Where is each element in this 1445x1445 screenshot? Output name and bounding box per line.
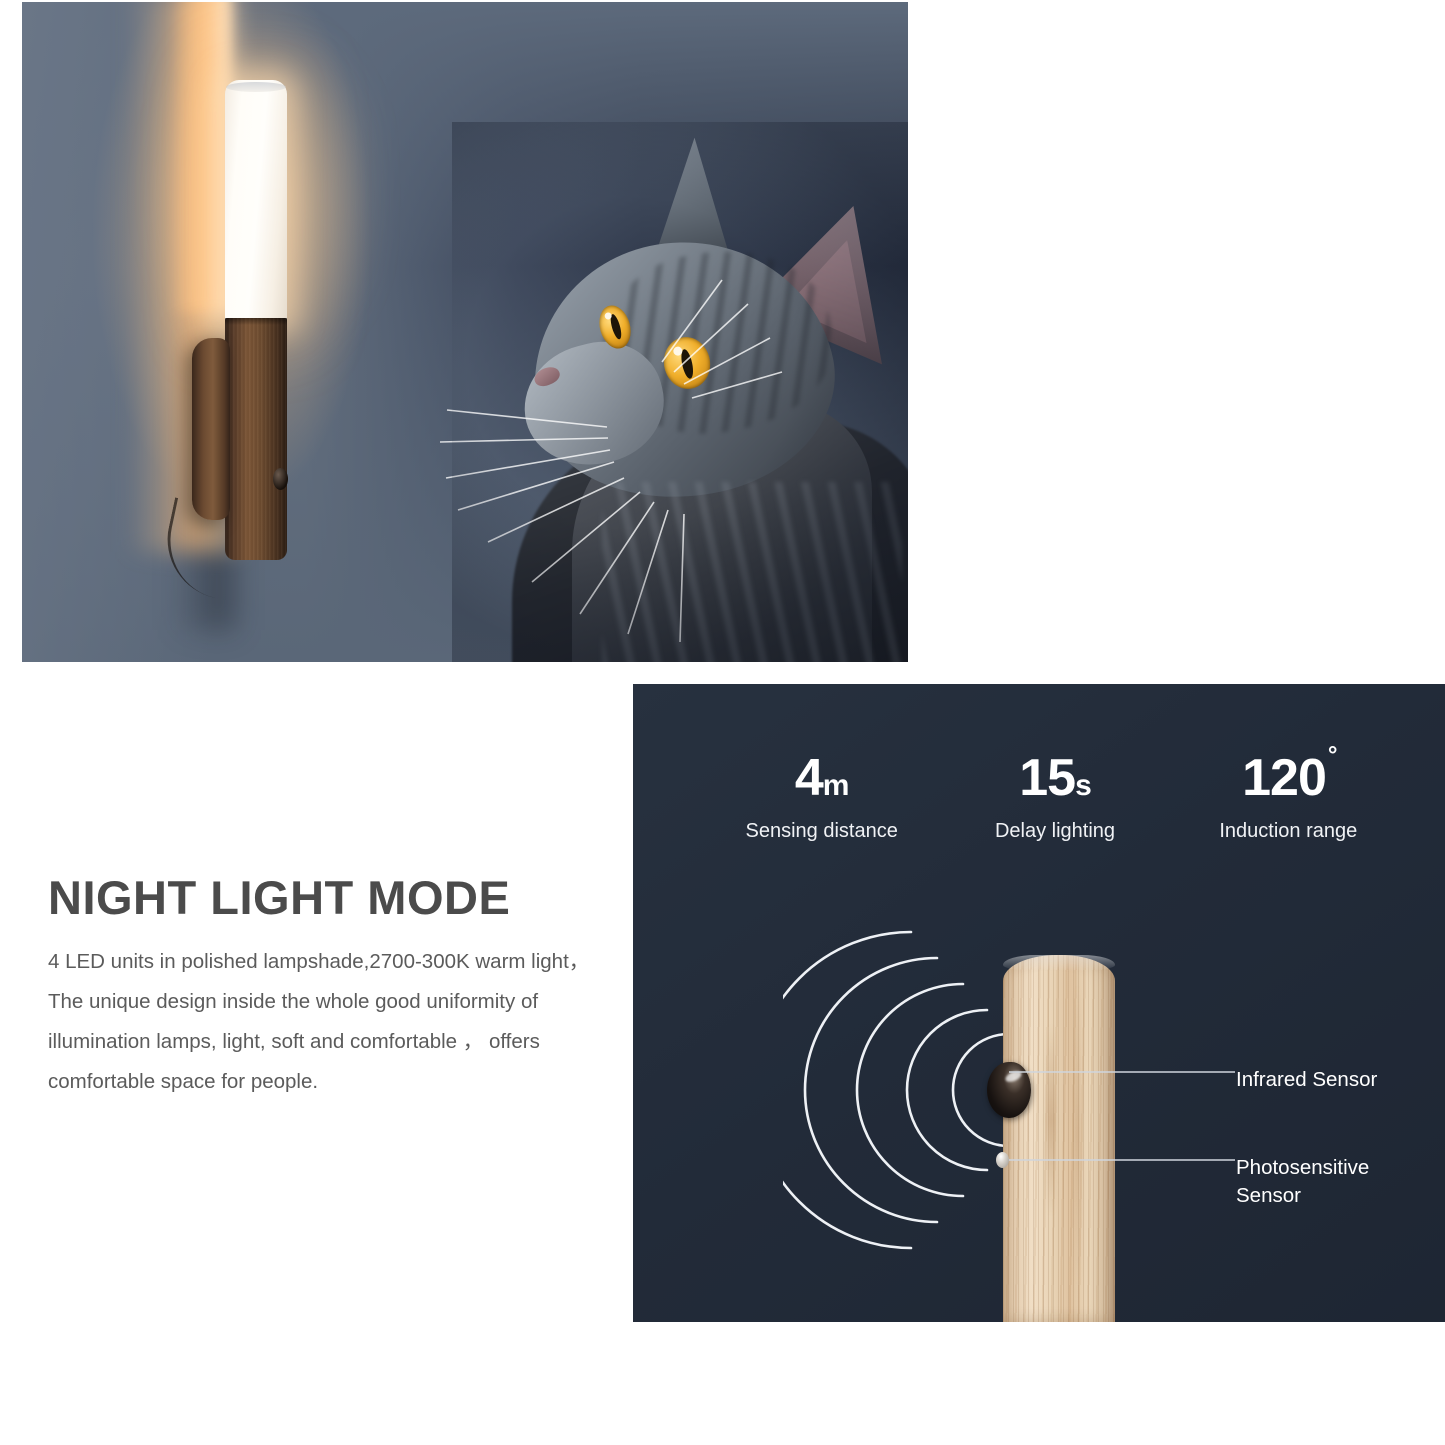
callout-leader-lines	[1009, 1044, 1269, 1184]
spec-label: Induction range	[1172, 820, 1405, 843]
photosensitive-sensor-dot-icon	[996, 1152, 1009, 1168]
spec-delay-lighting: 15s Delay lighting	[938, 752, 1171, 843]
lamp-infrared-sensor-icon	[273, 468, 288, 490]
spec-label: Delay lighting	[938, 820, 1171, 843]
wall-lamp	[225, 80, 287, 560]
lamp-body-top-edge	[225, 318, 287, 325]
lamp-shade-top-cap	[226, 82, 286, 92]
description-paragraph: 4 LED units in polished lampshade,2700-3…	[48, 942, 596, 1102]
spec-value: 15s	[938, 752, 1171, 804]
callout-infrared-sensor: Infrared Sensor	[1236, 1066, 1377, 1094]
degree-symbol: °	[1328, 742, 1337, 769]
lamp-shade	[225, 80, 287, 322]
spec-label: Sensing distance	[705, 820, 938, 843]
product-lifestyle-photo	[22, 2, 908, 662]
night-light-mode-text-block: NIGHT LIGHT MODE 4 LED units in polished…	[48, 872, 608, 1102]
spec-unit: m	[823, 769, 849, 802]
lamp-wall-bracket	[192, 338, 230, 520]
page-title: NIGHT LIGHT MODE	[48, 872, 608, 924]
spec-number: 4	[795, 749, 823, 807]
callout-photosensitive-sensor: Photosensitive Sensor	[1236, 1154, 1369, 1210]
cat-photo-subject	[452, 122, 908, 662]
spec-row: 4m Sensing distance 15s Delay lighting 1…	[705, 752, 1405, 843]
warm-light-beam-core	[172, 2, 230, 312]
spec-unit: s	[1075, 769, 1091, 802]
spec-number: 120	[1242, 749, 1326, 807]
spec-number: 15	[1019, 749, 1075, 807]
spec-value: 120°	[1172, 752, 1405, 804]
spec-sensing-distance: 4m Sensing distance	[705, 752, 938, 843]
cat-edge-vignette	[452, 122, 908, 662]
wood-cylinder-top-rim	[1003, 955, 1115, 971]
spec-value: 4m	[705, 752, 938, 804]
spec-induction-range: 120° Induction range	[1172, 752, 1405, 843]
sensor-spec-panel: 4m Sensing distance 15s Delay lighting 1…	[633, 684, 1445, 1322]
